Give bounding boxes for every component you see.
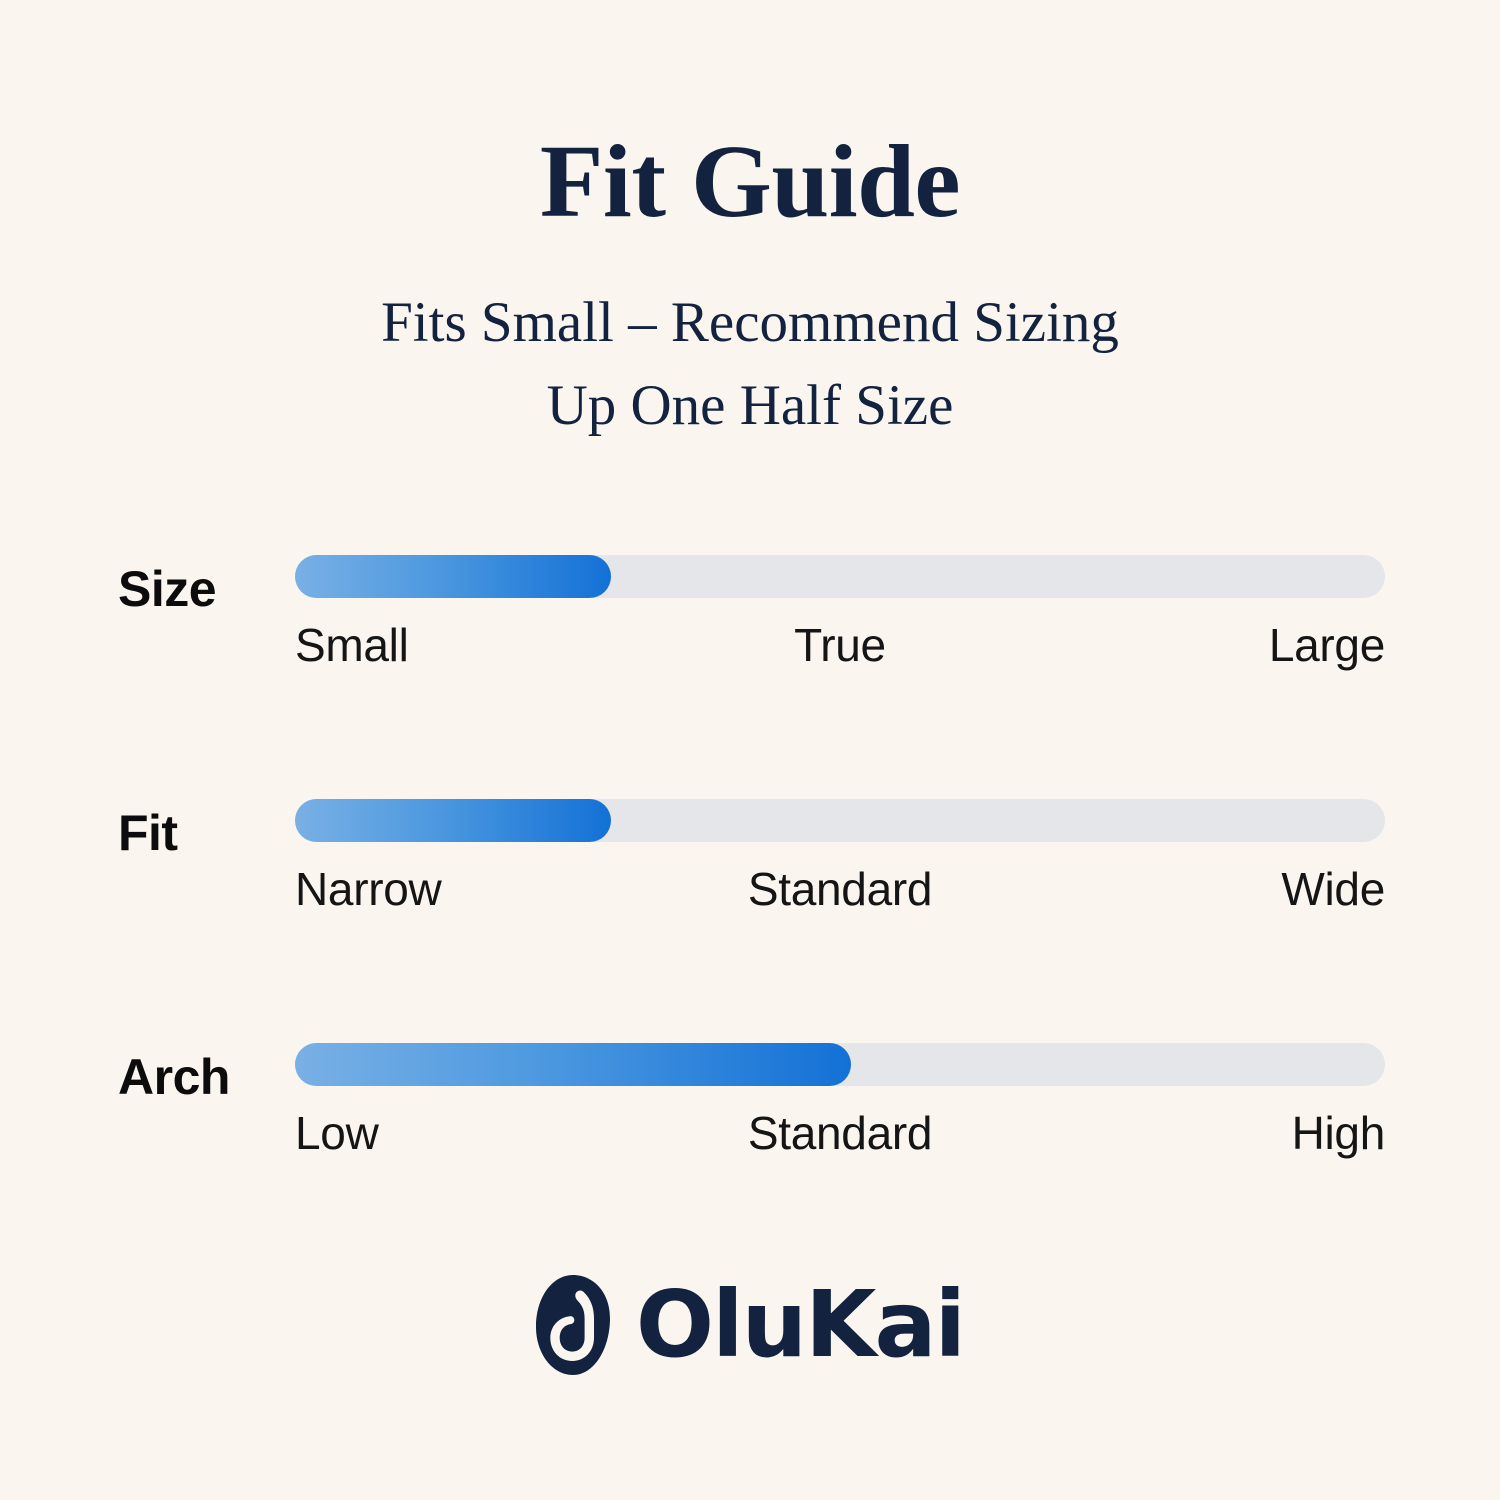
meter-fill-arch bbox=[295, 1043, 851, 1086]
meter-label-fit: Fit bbox=[118, 803, 178, 863]
meter-scale-fit: Narrow Standard Wide bbox=[295, 861, 1385, 917]
meter-row-size: Size Small True Large bbox=[0, 555, 1500, 799]
meter-fill-size bbox=[295, 555, 611, 598]
meter-scale-size: Small True Large bbox=[295, 617, 1385, 673]
meter-track-size[interactable] bbox=[295, 555, 1385, 598]
scale-mid-arch: Standard bbox=[748, 1105, 932, 1161]
brand-logo: OluKai bbox=[0, 1275, 1500, 1375]
meter-scale-arch: Low Standard High bbox=[295, 1105, 1385, 1161]
meter-track-wrap-fit: Narrow Standard Wide bbox=[295, 799, 1385, 917]
fit-guide-page: Fit Guide Fits Small – Recommend Sizing … bbox=[0, 0, 1500, 1500]
meter-track-wrap-arch: Low Standard High bbox=[295, 1043, 1385, 1161]
brand-name: OluKai bbox=[636, 1275, 964, 1375]
scale-right-fit: Wide bbox=[1281, 861, 1385, 917]
scale-mid-fit: Standard bbox=[748, 861, 932, 917]
meter-label-size: Size bbox=[118, 559, 216, 619]
subtitle-line-1: Fits Small – Recommend Sizing bbox=[0, 282, 1500, 365]
scale-right-size: Large bbox=[1269, 617, 1385, 673]
page-subtitle: Fits Small – Recommend Sizing Up One Hal… bbox=[0, 234, 1500, 447]
meter-track-arch[interactable] bbox=[295, 1043, 1385, 1086]
scale-left-arch: Low bbox=[295, 1105, 379, 1161]
olukai-hook-icon bbox=[536, 1275, 610, 1375]
scale-mid-size: True bbox=[794, 617, 886, 673]
meter-row-arch: Arch Low Standard High bbox=[0, 1043, 1500, 1287]
meter-track-wrap-size: Small True Large bbox=[295, 555, 1385, 673]
meter-row-fit: Fit Narrow Standard Wide bbox=[0, 799, 1500, 1043]
scale-left-size: Small bbox=[295, 617, 409, 673]
header: Fit Guide Fits Small – Recommend Sizing … bbox=[0, 130, 1500, 447]
meter-track-fit[interactable] bbox=[295, 799, 1385, 842]
meter-label-arch: Arch bbox=[118, 1047, 230, 1107]
fit-meters: Size Small True Large Fit Narrow bbox=[0, 555, 1500, 1287]
page-title: Fit Guide bbox=[0, 130, 1500, 234]
subtitle-line-2: Up One Half Size bbox=[0, 365, 1500, 448]
meter-fill-fit bbox=[295, 799, 611, 842]
scale-left-fit: Narrow bbox=[295, 861, 441, 917]
scale-right-arch: High bbox=[1292, 1105, 1385, 1161]
